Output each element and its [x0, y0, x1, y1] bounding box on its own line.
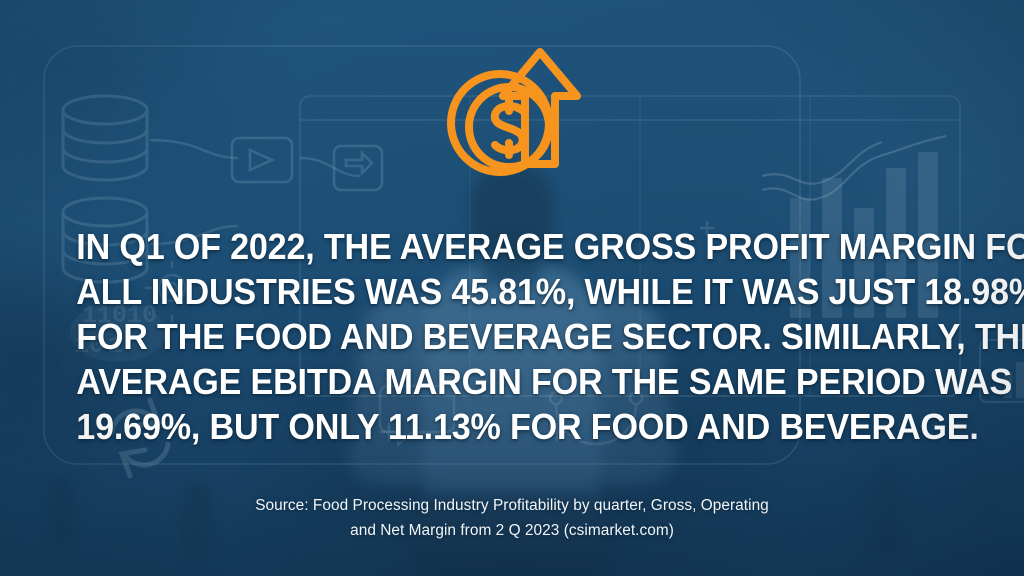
headline-line-2: ALL INDUSTRIES WAS 45.81%, WHILE IT WAS …	[76, 269, 947, 314]
source-line-2: and Net Margin from 2 Q 2023 (csimarket.…	[140, 519, 884, 544]
headline-line-4: AVERAGE EBITDA MARGIN FOR THE SAME PERIO…	[76, 359, 947, 404]
headline-text: IN Q1 OF 2022, THE AVERAGE GROSS PROFIT …	[33, 224, 990, 449]
infographic-canvas: 11010 10 1	[0, 0, 1024, 576]
source-citation: Source: Food Processing Industry Profita…	[0, 494, 1024, 543]
headline-line-1: IN Q1 OF 2022, THE AVERAGE GROSS PROFIT …	[76, 224, 947, 269]
coin-dollar-growth-arrow-icon	[437, 26, 587, 178]
source-line-1: Source: Food Processing Industry Profita…	[140, 494, 884, 519]
headline-line-5: 19.69%, BUT ONLY 11.13% FOR FOOD AND BEV…	[76, 404, 947, 449]
arrow-connector-icon	[232, 138, 382, 190]
headline-line-3: FOR THE FOOD AND BEVERAGE SECTOR. SIMILA…	[76, 314, 947, 359]
